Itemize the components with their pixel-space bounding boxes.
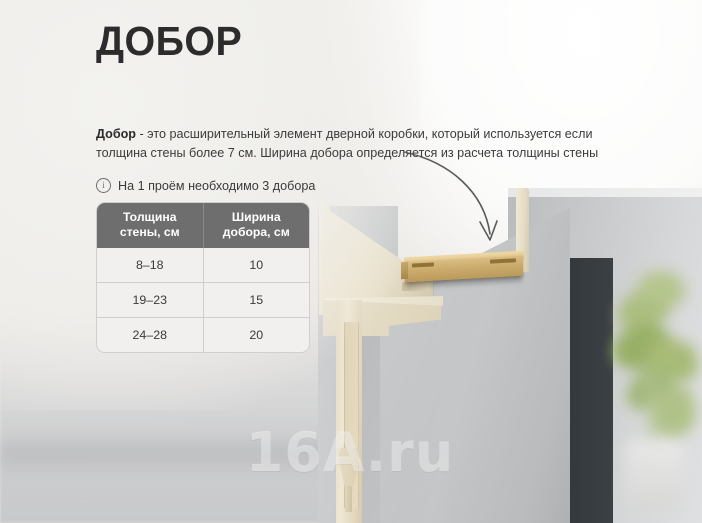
table-body: 8–18 10 19–23 15 24–28 20 bbox=[97, 248, 309, 352]
header-line-1: Ширина bbox=[232, 210, 281, 224]
header-line-2: добора, см bbox=[223, 225, 290, 239]
slide-canvas: 16A.ru ДОБОР Добор - это расширительный … bbox=[0, 0, 702, 523]
table-header-row: Толщина стены, см Ширина добора, см bbox=[97, 203, 309, 248]
table-row: 24–28 20 bbox=[97, 318, 309, 353]
info-note: i На 1 проём необходимо 3 добора bbox=[96, 178, 315, 193]
table-cell-wall-thickness: 8–18 bbox=[97, 248, 203, 283]
info-note-text: На 1 проём необходимо 3 добора bbox=[118, 179, 315, 193]
intro-body-text: - это расширительный элемент дверной кор… bbox=[96, 127, 598, 160]
table-header: Толщина стены, см Ширина добора, см bbox=[97, 203, 309, 248]
table-header-cell-dobor-width: Ширина добора, см bbox=[203, 203, 309, 248]
page-title: ДОБОР bbox=[96, 18, 242, 65]
table-row: 8–18 10 bbox=[97, 248, 309, 283]
table-cell-dobor-width: 20 bbox=[203, 318, 309, 353]
table-header-cell-wall-thickness: Толщина стены, см bbox=[97, 203, 203, 248]
table-row: 19–23 15 bbox=[97, 283, 309, 318]
table-cell-dobor-width: 10 bbox=[203, 248, 309, 283]
table-cell-wall-thickness: 24–28 bbox=[97, 318, 203, 353]
header-line-2: стены, см bbox=[120, 225, 180, 239]
table-cell-dobor-width: 15 bbox=[203, 283, 309, 318]
wall-thickness-table: Толщина стены, см Ширина добора, см 8–18… bbox=[97, 203, 309, 352]
intro-paragraph: Добор - это расширительный элемент дверн… bbox=[96, 125, 614, 163]
header-line-1: Толщина bbox=[123, 210, 176, 224]
table-cell-wall-thickness: 19–23 bbox=[97, 283, 203, 318]
intro-lead-term: Добор bbox=[96, 127, 136, 141]
content-layer: ДОБОР Добор - это расширительный элемент… bbox=[0, 0, 702, 523]
info-circle-icon: i bbox=[96, 178, 111, 193]
